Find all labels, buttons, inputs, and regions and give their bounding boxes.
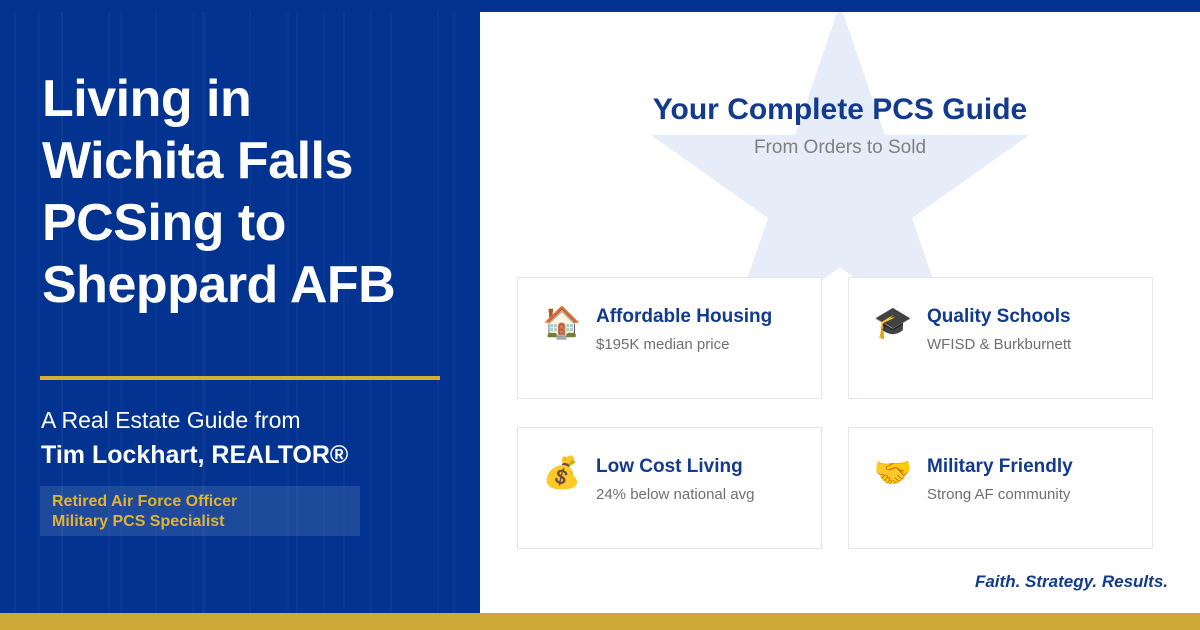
feature-title: Low Cost Living xyxy=(596,455,743,479)
feature-title: Quality Schools xyxy=(927,305,1071,329)
bottom-accent-bar xyxy=(0,613,1200,630)
feature-card-military-friendly[interactable]: 🤝 Military Friendly Strong AF community xyxy=(848,427,1153,549)
feature-card-affordable-housing[interactable]: 🏠 Affordable Housing $195K median price xyxy=(517,277,822,399)
credentials-badge-line-2: Military PCS Specialist xyxy=(52,512,225,532)
byline-prefix: A Real Estate Guide from xyxy=(41,406,301,434)
feature-subtitle: WFISD & Burkburnett xyxy=(927,335,1071,355)
headline-line-4: Sheppard AFB xyxy=(42,254,462,316)
feature-title: Military Friendly xyxy=(927,455,1073,479)
panel-title: Your Complete PCS Guide xyxy=(480,92,1200,128)
feature-card-low-cost-living[interactable]: 💰 Low Cost Living 24% below national avg xyxy=(517,427,822,549)
feature-card-quality-schools[interactable]: 🎓 Quality Schools WFISD & Burkburnett xyxy=(848,277,1153,399)
feature-subtitle: $195K median price xyxy=(596,335,729,355)
panel-subtitle: From Orders to Sold xyxy=(480,136,1200,160)
headline-line-2: Wichita Falls xyxy=(42,130,462,192)
feature-grid: 🏠 Affordable Housing $195K median price … xyxy=(517,277,1148,549)
feature-title: Affordable Housing xyxy=(596,305,772,329)
graduation-cap-icon: 🎓 xyxy=(872,302,914,344)
feature-subtitle: Strong AF community xyxy=(927,485,1070,505)
headline-line-3: PCSing to xyxy=(42,192,462,254)
brand-tagline: Faith. Strategy. Results. xyxy=(975,571,1168,593)
handshake-icon: 🤝 xyxy=(872,452,914,494)
feature-subtitle: 24% below national avg xyxy=(596,485,754,505)
left-hero-panel: Living in Wichita Falls PCSing to Sheppa… xyxy=(0,0,480,613)
page-title: Living in Wichita Falls PCSing to Sheppa… xyxy=(42,68,462,316)
credentials-badge: Retired Air Force Officer Military PCS S… xyxy=(40,486,360,536)
top-accent-bar xyxy=(0,0,1200,12)
credentials-badge-line-1: Retired Air Force Officer xyxy=(52,492,237,512)
house-icon: 🏠 xyxy=(541,302,583,344)
byline-author-name: Tim Lockhart, REALTOR® xyxy=(41,440,348,470)
money-bag-icon: 💰 xyxy=(541,452,583,494)
right-content-panel: Your Complete PCS Guide From Orders to S… xyxy=(480,0,1200,613)
gold-divider xyxy=(40,376,440,380)
social-card: Living in Wichita Falls PCSing to Sheppa… xyxy=(0,0,1200,630)
headline-line-1: Living in xyxy=(42,68,462,130)
